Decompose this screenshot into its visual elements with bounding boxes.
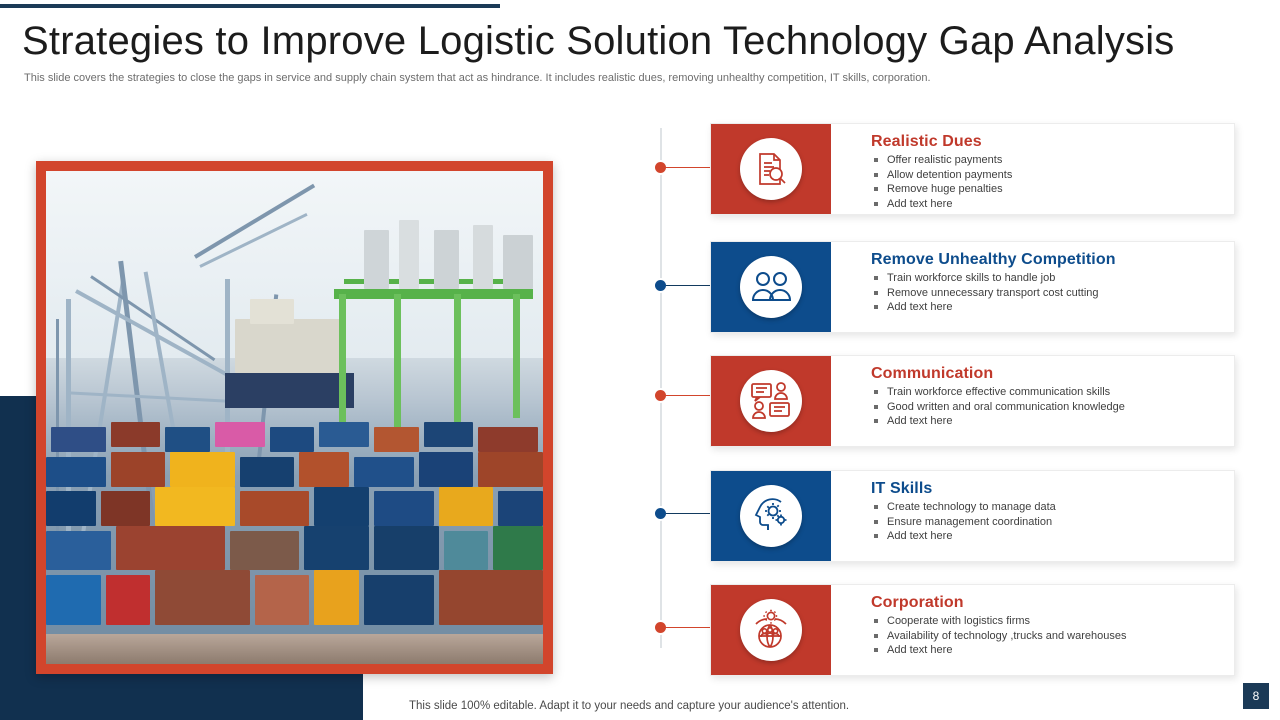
slide: Strategies to Improve Logistic Solution … xyxy=(0,0,1280,720)
bullet: Offer realistic payments xyxy=(871,153,1224,168)
bullet: Add text here xyxy=(871,529,1224,544)
icon-box-3 xyxy=(711,356,831,446)
bullet: Add text here xyxy=(871,414,1224,429)
page-number-badge: 8 xyxy=(1243,683,1269,709)
timeline-connector-3 xyxy=(666,395,710,396)
photo-frame xyxy=(36,161,553,674)
icon-box-1 xyxy=(711,124,831,214)
bullet: Add text here xyxy=(871,197,1224,212)
bullet: Cooperate with logistics firms xyxy=(871,614,1224,629)
chat-people-icon xyxy=(740,370,802,432)
team-globe-gear-icon xyxy=(740,599,802,661)
bullet: Good written and oral communication know… xyxy=(871,400,1224,415)
strategy-card-corporation[interactable]: Corporation Cooperate with logistics fir… xyxy=(710,584,1235,676)
timeline-node-3 xyxy=(655,390,666,401)
page-title: Strategies to Improve Logistic Solution … xyxy=(22,18,1242,64)
timeline-connector-5 xyxy=(666,627,710,628)
footer-note: This slide 100% editable. Adapt it to yo… xyxy=(409,700,849,712)
card-body-3: Communication Train workforce effective … xyxy=(871,363,1224,429)
card-body-5: Corporation Cooperate with logistics fir… xyxy=(871,592,1224,658)
timeline-node-2 xyxy=(655,280,666,291)
bullet: Add text here xyxy=(871,300,1224,315)
timeline-connector-1 xyxy=(666,167,710,168)
two-people-icon xyxy=(740,256,802,318)
card-title-5: Corporation xyxy=(871,592,1224,613)
head-gears-icon xyxy=(740,485,802,547)
bullet: Add text here xyxy=(871,643,1224,658)
icon-box-5 xyxy=(711,585,831,675)
bullet: Availability of technology ,trucks and w… xyxy=(871,629,1224,644)
photo-ground xyxy=(46,634,543,664)
timeline-connector-4 xyxy=(666,513,710,514)
card-bullets-3: Train workforce effective communication … xyxy=(871,385,1224,429)
card-bullets-2: Train workforce skills to handle job Rem… xyxy=(871,271,1224,315)
strategy-card-realistic-dues[interactable]: Realistic Dues Offer realistic payments … xyxy=(710,123,1235,215)
card-bullets-5: Cooperate with logistics firms Availabil… xyxy=(871,614,1224,658)
timeline-node-4 xyxy=(655,508,666,519)
icon-box-2 xyxy=(711,242,831,332)
page-subtitle: This slide covers the strategies to clos… xyxy=(24,71,1124,85)
bullet: Ensure management coordination xyxy=(871,515,1224,530)
bullet: Remove huge penalties xyxy=(871,182,1224,197)
timeline-node-1 xyxy=(655,162,666,173)
bullet: Train workforce skills to handle job xyxy=(871,271,1224,286)
card-title-2: Remove Unhealthy Competition xyxy=(871,249,1224,270)
strategy-card-it-skills[interactable]: IT Skills Create technology to manage da… xyxy=(710,470,1235,562)
strategy-card-communication[interactable]: Communication Train workforce effective … xyxy=(710,355,1235,447)
timeline-connector-2 xyxy=(666,285,710,286)
card-title-1: Realistic Dues xyxy=(871,131,1224,152)
icon-box-4 xyxy=(711,471,831,561)
timeline-node-5 xyxy=(655,622,666,633)
card-bullets-4: Create technology to manage data Ensure … xyxy=(871,500,1224,544)
strategy-card-remove-unhealthy-competition[interactable]: Remove Unhealthy Competition Train workf… xyxy=(710,241,1235,333)
card-bullets-1: Offer realistic payments Allow detention… xyxy=(871,153,1224,211)
card-body-4: IT Skills Create technology to manage da… xyxy=(871,478,1224,544)
timeline-spine xyxy=(660,128,662,648)
card-title-4: IT Skills xyxy=(871,478,1224,499)
port-photo xyxy=(46,171,543,664)
bullet: Train workforce effective communication … xyxy=(871,385,1224,400)
card-body-2: Remove Unhealthy Competition Train workf… xyxy=(871,249,1224,315)
bullet: Remove unnecessary transport cost cuttin… xyxy=(871,286,1224,301)
card-title-3: Communication xyxy=(871,363,1224,384)
header-top-rule xyxy=(0,4,500,8)
bullet: Allow detention payments xyxy=(871,168,1224,183)
card-body-1: Realistic Dues Offer realistic payments … xyxy=(871,131,1224,211)
bullet: Create technology to manage data xyxy=(871,500,1224,515)
document-search-icon xyxy=(740,138,802,200)
